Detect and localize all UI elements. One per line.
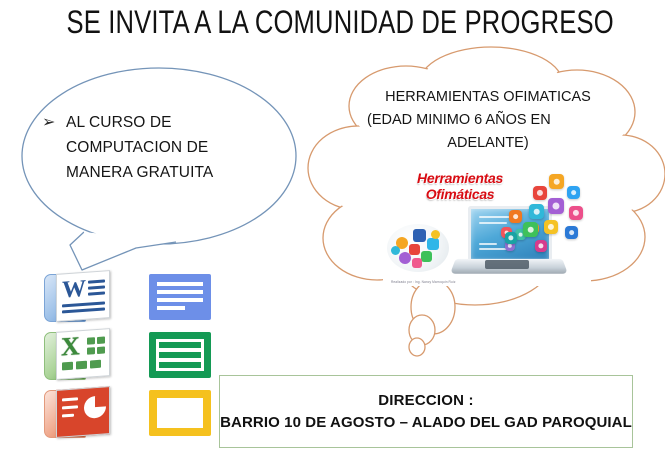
app-tile-icon	[509, 210, 522, 223]
sheets-block[interactable]	[149, 332, 211, 378]
app-tile-icon	[569, 206, 583, 220]
speech-line-1: AL CURSO DE	[66, 110, 281, 135]
app-tile-icon	[535, 240, 547, 252]
app-tile-icon	[565, 226, 578, 239]
bullet-arrow-icon: ➢	[42, 110, 55, 135]
cloud-line-3: ADELANTE)	[363, 132, 613, 155]
ofimatica-photo: Herramientas Ofimáticas	[383, 164, 591, 286]
app-tile-icon	[505, 232, 517, 244]
app-tile-icon	[529, 204, 544, 219]
social-sphere-icon	[387, 224, 449, 272]
docs-block[interactable]	[149, 274, 211, 320]
photo-title-line-1: Herramientas	[395, 170, 525, 186]
address-label: DIRECCION :	[378, 392, 474, 409]
powerpoint-icon[interactable]	[44, 388, 110, 440]
thought-cloud-text: HERRAMIENTAS OFIMATICAS (EDAD MINIMO 6 A…	[363, 86, 613, 155]
speech-bubble-text: AL CURSO DE COMPUTACION DE MANERA GRATUI…	[66, 110, 281, 185]
photo-credit: Realizado por : Ing. Nancy Marroquín Ruí…	[391, 280, 456, 284]
excel-icon[interactable]: X	[44, 330, 110, 382]
office-icon-grid: W X	[44, 272, 219, 440]
app-tile-icon	[567, 186, 580, 199]
word-icon[interactable]: W	[44, 272, 110, 324]
app-tile-icon	[549, 174, 564, 189]
app-tile-icon	[523, 222, 538, 237]
speech-line-2: COMPUTACION DE	[66, 135, 281, 160]
app-tile-icon	[533, 186, 547, 200]
speech-bubble: ➢ AL CURSO DE COMPUTACION DE MANERA GRAT…	[18, 62, 330, 277]
cloud-line-1: HERRAMIENTAS OFIMATICAS	[363, 86, 613, 109]
cloud-line-2: (EDAD MINIMO 6 AÑOS EN	[363, 109, 613, 132]
speech-line-3: MANERA GRATUITA	[66, 160, 281, 185]
laptop-trackpad-icon	[485, 260, 529, 269]
address-box: DIRECCION : BARRIO 10 DE AGOSTO – ALADO …	[219, 375, 633, 448]
address-value: BARRIO 10 DE AGOSTO – ALADO DEL GAD PARO…	[220, 414, 632, 431]
app-tile-icon	[544, 220, 558, 234]
poster-canvas: SE INVITA A LA COMUNIDAD DE PROGRESO ➢ A…	[0, 0, 665, 474]
page-title: SE INVITA A LA COMUNIDAD DE PROGRESO	[67, 4, 599, 40]
photo-title: Herramientas Ofimáticas	[395, 170, 525, 202]
thought-cloud: HERRAMIENTAS OFIMATICAS (EDAD MINIMO 6 A…	[305, 42, 665, 360]
photo-title-line-2: Ofimáticas	[395, 186, 525, 202]
slides-block[interactable]	[149, 390, 211, 436]
app-tile-icon	[548, 198, 564, 214]
